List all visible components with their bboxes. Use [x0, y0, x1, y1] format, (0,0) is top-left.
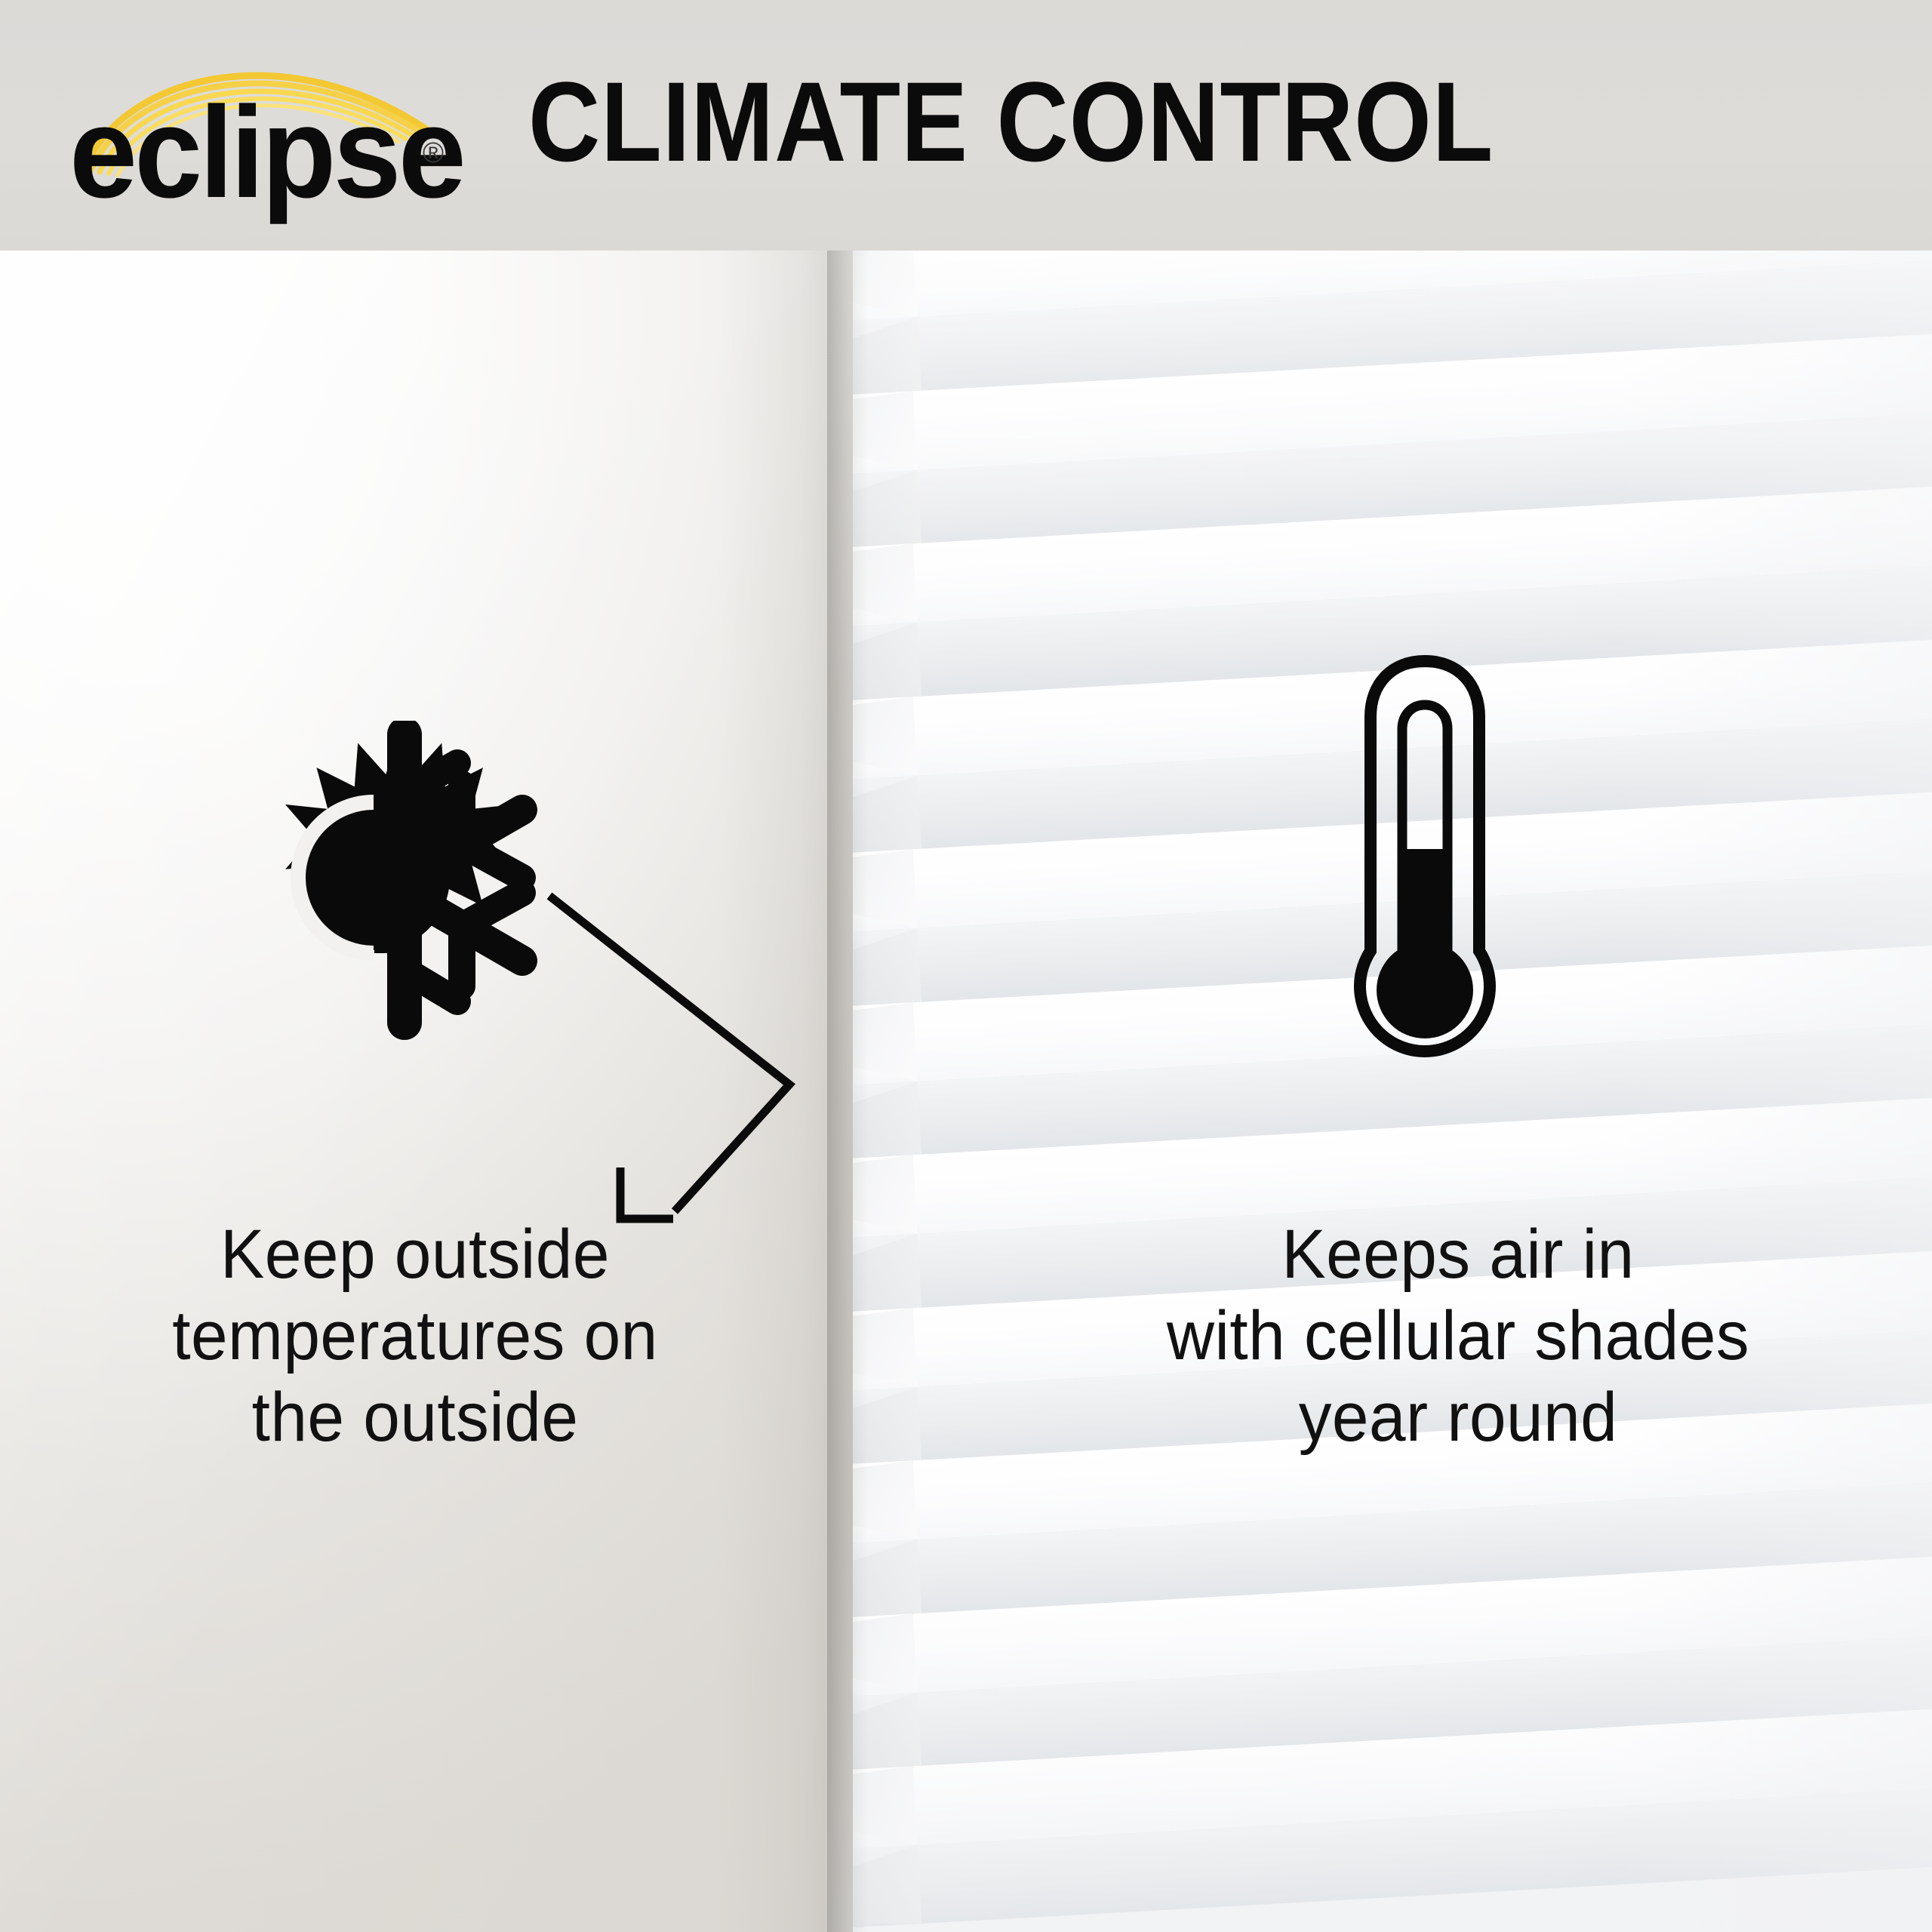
bent-down-left-arrow: [540, 887, 857, 1238]
left-caption: Keep outside temperatures on the outside: [50, 1214, 781, 1458]
header-bar: eclipse ® CLIMATE CONTROL: [0, 0, 1932, 251]
thermometer-icon: [1342, 649, 1508, 1121]
arrowhead: [620, 1168, 673, 1219]
right-caption: Keeps air in with cellular shades year r…: [1063, 1214, 1854, 1458]
mercury-bulb: [1377, 942, 1473, 1038]
page-title: CLIMATE CONTROL: [528, 65, 1494, 178]
sun-snowflake-icon: [226, 721, 543, 1057]
brand-text: eclipse: [69, 89, 463, 216]
brand-trademark: ®: [423, 137, 444, 170]
brand-wordmark: eclipse ®: [69, 89, 492, 217]
poster-canvas: Keep outside temperatures on the outside…: [0, 0, 1932, 1932]
eclipse-logo[interactable]: eclipse ®: [69, 23, 492, 219]
